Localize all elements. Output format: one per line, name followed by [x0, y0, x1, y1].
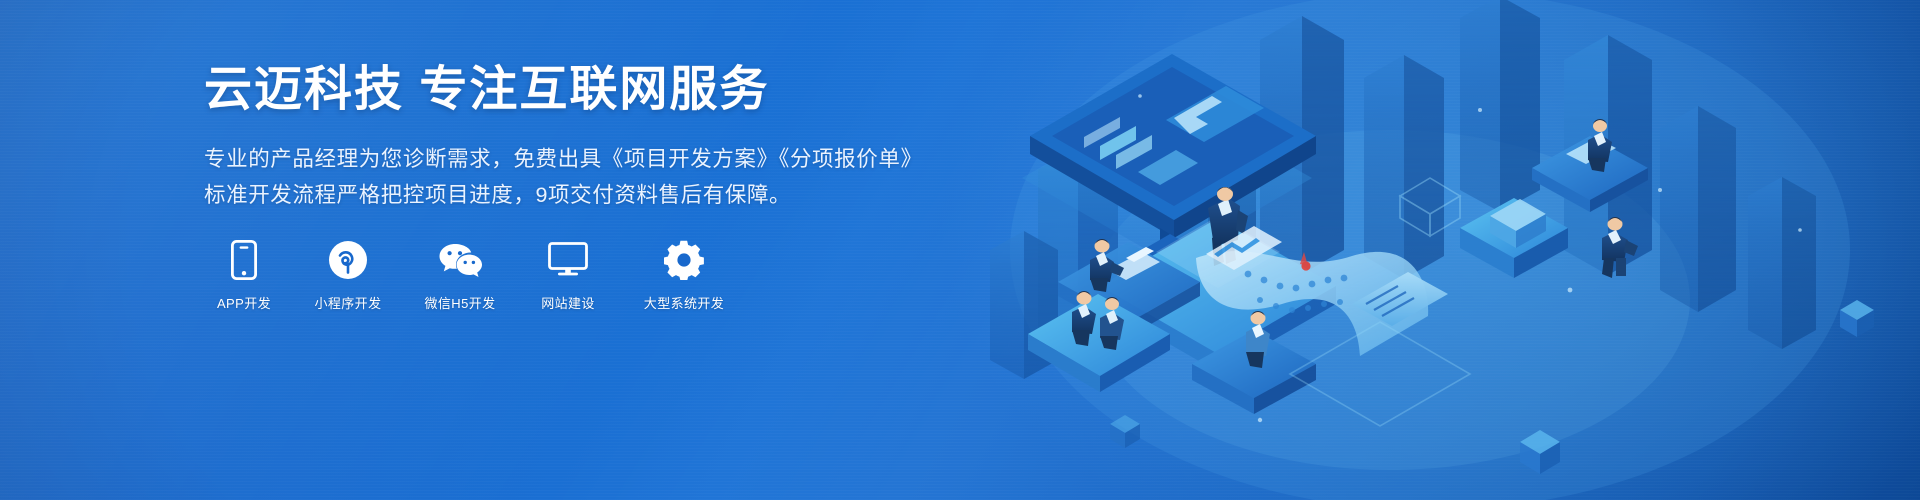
mini-program-icon [328, 239, 368, 281]
service-item-mini-program[interactable]: 小程序开发 [306, 239, 390, 312]
service-item-website[interactable]: 网站建设 [530, 239, 606, 312]
service-item-wechat-h5[interactable]: 微信H5开发 [416, 239, 504, 312]
service-list: APP开发 小程序开发 [208, 239, 964, 312]
mobile-phone-icon [231, 239, 257, 281]
illustration-container [960, 0, 1920, 500]
service-item-large-system[interactable]: 大型系统开发 [632, 239, 736, 312]
wechat-icon [438, 239, 482, 281]
banner-subtitle-line-2: 标准开发流程严格把控项目进度，9项交付资料售后有保障。 [204, 177, 964, 213]
gear-icon [664, 239, 704, 281]
service-label: APP开发 [217, 293, 271, 312]
service-label: 网站建设 [541, 293, 595, 312]
banner-subtitle-line-1: 专业的产品经理为您诊断需求，免费出具《项目开发方案》《分项报价单》 [204, 141, 964, 177]
hero-banner: 云迈科技 专注互联网服务 专业的产品经理为您诊断需求，免费出具《项目开发方案》《… [0, 0, 1920, 500]
monitor-icon [548, 239, 588, 281]
page-title: 云迈科技 专注互联网服务 [204, 62, 964, 117]
banner-content: 云迈科技 专注互联网服务 专业的产品经理为您诊断需求，免费出具《项目开发方案》《… [204, 62, 964, 312]
service-item-app[interactable]: APP开发 [208, 239, 280, 312]
service-label: 微信H5开发 [424, 293, 495, 312]
service-label: 小程序开发 [314, 293, 381, 312]
service-label: 大型系统开发 [644, 293, 724, 312]
